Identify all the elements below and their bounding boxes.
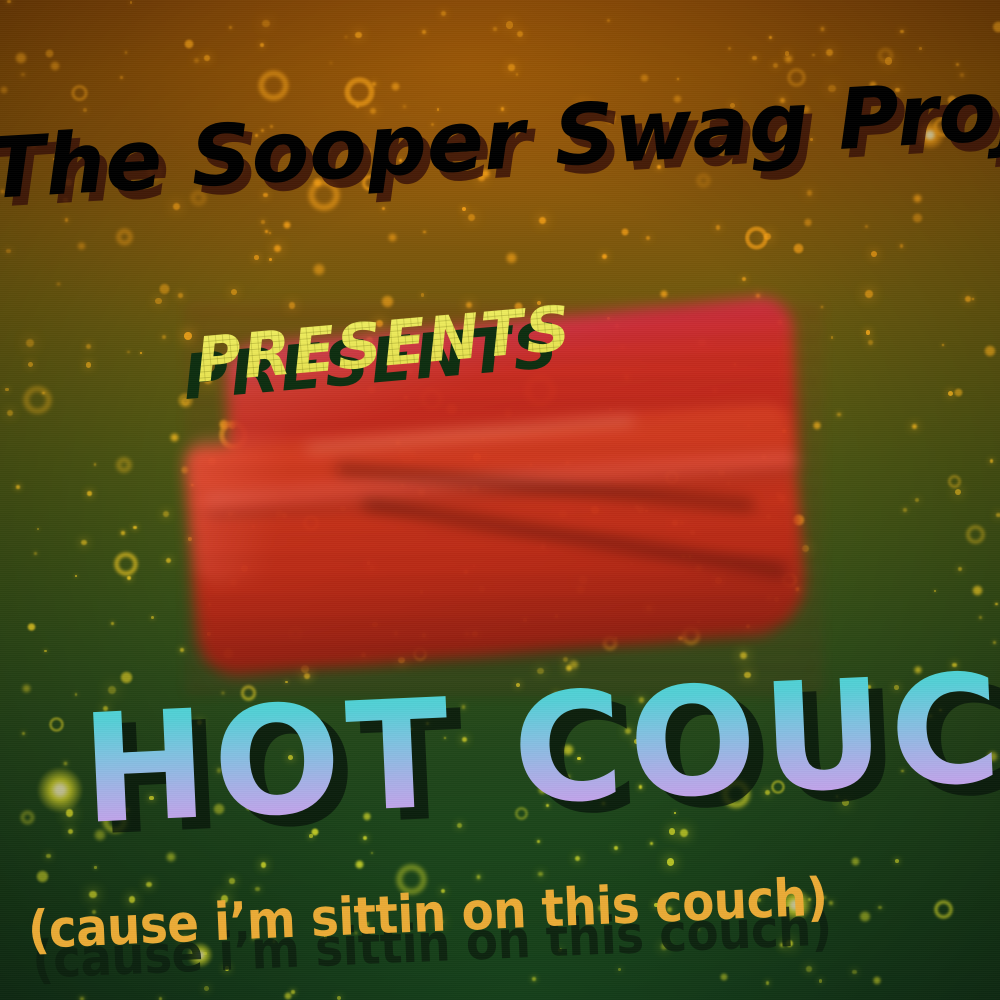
album-cover: The Sooper Swag Project The Sooper Swag … (0, 0, 1000, 1000)
album-title: HOT COUCH HOT COUCH (79, 648, 1000, 846)
